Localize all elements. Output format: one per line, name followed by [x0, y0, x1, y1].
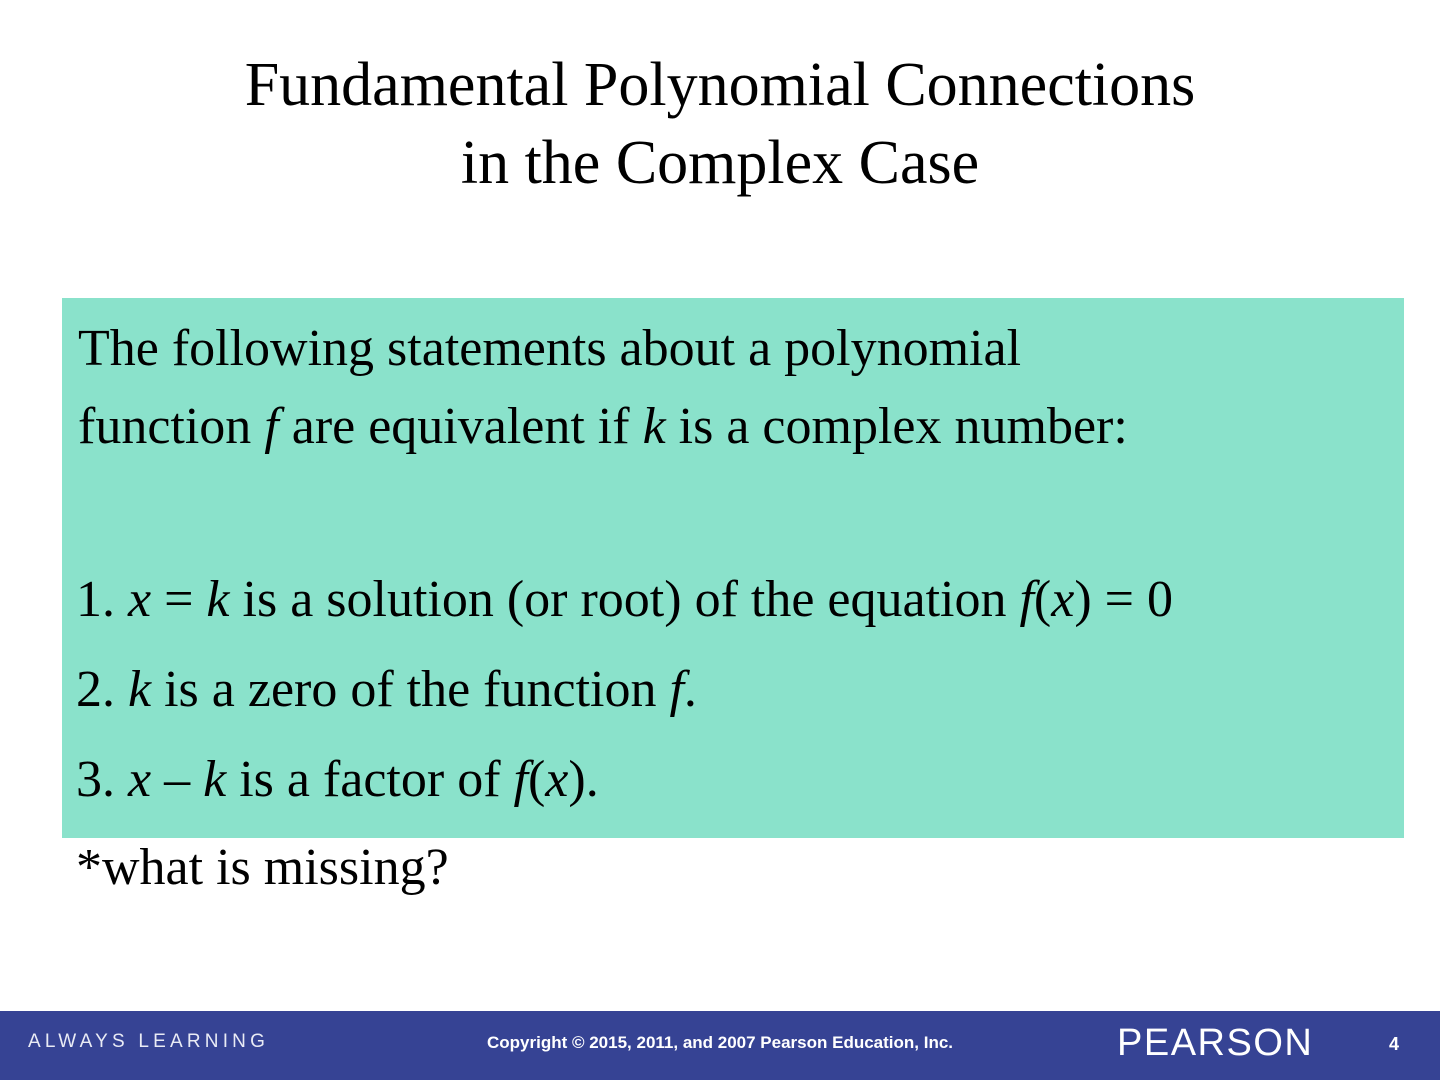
- statement-text-segment: is a solution (or root) of the equation: [230, 571, 1020, 628]
- variable-k: k: [128, 661, 151, 718]
- page-title-line-2: in the Complex Case: [90, 124, 1350, 202]
- statement-text-segment: is a zero of the function: [151, 661, 669, 718]
- paren-open: (: [528, 751, 545, 808]
- statement-text-segment: .: [586, 751, 599, 808]
- list-item: 3. x – k is a factor of f(x).: [76, 750, 599, 810]
- variable-x: x: [1051, 571, 1074, 628]
- statement-text-segment: .: [684, 661, 697, 718]
- variable-x: x: [128, 751, 151, 808]
- paren-close: ): [1074, 571, 1091, 628]
- function-f: f: [1019, 571, 1033, 628]
- paren-open: (: [1034, 571, 1051, 628]
- page-title-line-1: Fundamental Polynomial Connections: [90, 46, 1350, 124]
- variable-x: x: [128, 571, 151, 628]
- list-item: 1. x = k is a solution (or root) of the …: [76, 570, 1173, 630]
- intro-text-segment: are equivalent if: [279, 398, 643, 455]
- variable-k: k: [643, 398, 666, 455]
- variable-k: k: [206, 571, 229, 628]
- function-f: f: [669, 661, 683, 718]
- list-item: 2. k is a zero of the function f.: [76, 660, 697, 720]
- slide-canvas: Fundamental Polynomial Connections in th…: [0, 0, 1440, 1080]
- missing-note: *what is missing?: [76, 838, 449, 898]
- list-item-number: 3.: [76, 751, 115, 808]
- intro-text-segment: is a complex number:: [666, 398, 1128, 455]
- page-number: 4: [1374, 1034, 1414, 1055]
- intro-paragraph: The following statements about a polynom…: [78, 310, 1398, 466]
- intro-line-2: function f are equivalent if k is a comp…: [78, 388, 1398, 466]
- intro-text-segment: function: [78, 398, 264, 455]
- pearson-logo: PEARSON: [1117, 1022, 1313, 1065]
- variable-k: k: [203, 751, 226, 808]
- statement-text-segment: is a factor of: [226, 751, 513, 808]
- variable-f: f: [264, 398, 278, 455]
- statement-text-segment: = 0: [1092, 571, 1173, 628]
- statement-text-segment: –: [151, 751, 203, 808]
- statement-text-segment: =: [151, 571, 206, 628]
- paren-close: ): [568, 751, 585, 808]
- list-item-number: 1.: [76, 571, 115, 628]
- variable-x: x: [545, 751, 568, 808]
- intro-line-1: The following statements about a polynom…: [78, 310, 1398, 388]
- page-title: Fundamental Polynomial Connections in th…: [90, 46, 1350, 202]
- function-f: f: [514, 751, 528, 808]
- list-item-number: 2.: [76, 661, 115, 718]
